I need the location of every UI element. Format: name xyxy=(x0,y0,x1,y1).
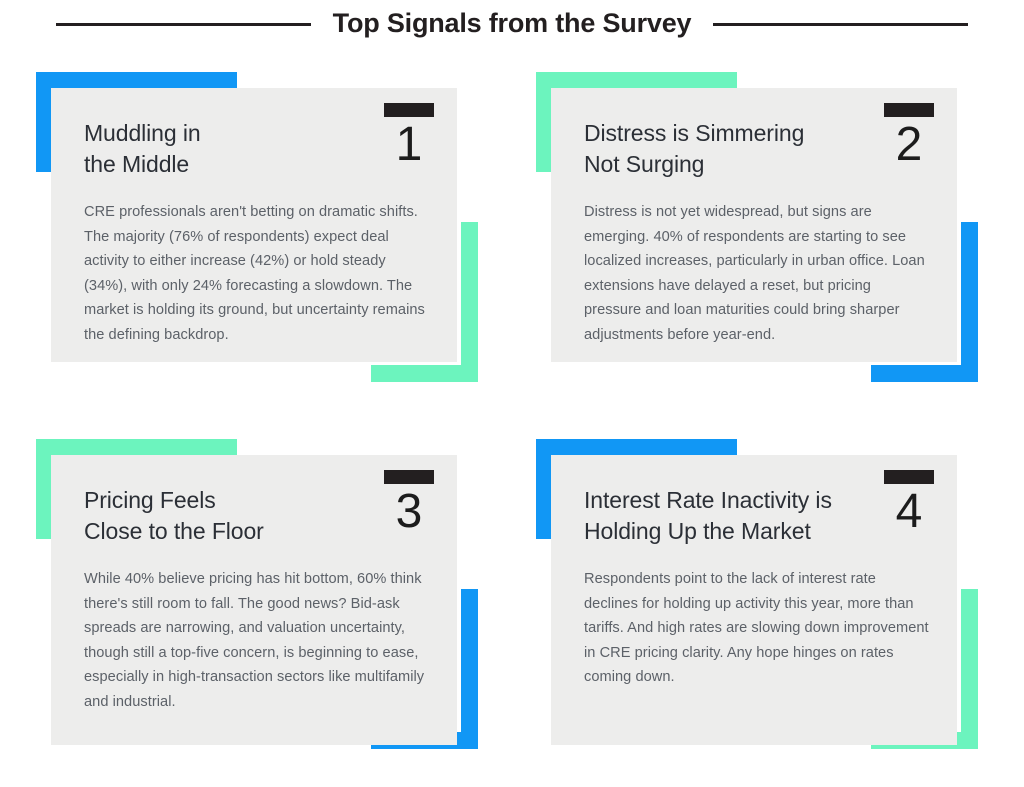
signal-card-3: Pricing Feels Close to the Floor 3 While… xyxy=(36,439,478,749)
card-body-panel: Pricing Feels Close to the Floor 3 While… xyxy=(51,455,457,745)
signal-card-4: Interest Rate Inactivity is Holding Up t… xyxy=(536,439,978,749)
card-number-badge: 1 xyxy=(383,103,435,169)
accent-bar-horizontal xyxy=(36,439,237,456)
accent-bar-vertical xyxy=(461,589,478,749)
card-body-panel: Muddling in the Middle 1 CRE professiona… xyxy=(51,88,457,362)
signal-card-1: Muddling in the Middle 1 CRE professiona… xyxy=(36,72,478,382)
card-description: Respondents point to the lack of interes… xyxy=(584,567,931,690)
accent-bar-horizontal xyxy=(36,72,237,89)
card-description: CRE professionals aren't betting on dram… xyxy=(84,200,431,348)
accent-bar-horizontal xyxy=(371,365,478,382)
signal-card-2: Distress is Simmering Not Surging 2 Dist… xyxy=(536,72,978,382)
signal-card-grid: Muddling in the Middle 1 CRE professiona… xyxy=(0,48,1024,787)
accent-bar-horizontal xyxy=(536,439,737,456)
accent-bar-horizontal xyxy=(871,365,978,382)
card-number: 3 xyxy=(383,488,435,536)
infographic-page: Top Signals from the Survey Muddling in … xyxy=(0,0,1024,787)
card-body-panel: Interest Rate Inactivity is Holding Up t… xyxy=(551,455,957,745)
card-number-badge: 3 xyxy=(383,470,435,536)
page-title: Top Signals from the Survey xyxy=(333,10,692,39)
card-header: Interest Rate Inactivity is Holding Up t… xyxy=(584,485,931,555)
card-number: 2 xyxy=(883,121,935,169)
card-title: Pricing Feels Close to the Floor xyxy=(84,485,431,547)
number-underline-bar-icon xyxy=(884,103,934,117)
number-underline-bar-icon xyxy=(384,103,434,117)
card-title: Distress is Simmering Not Surging xyxy=(584,118,931,180)
number-underline-bar-icon xyxy=(884,470,934,484)
card-description: Distress is not yet widespread, but sign… xyxy=(584,200,931,348)
card-title: Interest Rate Inactivity is Holding Up t… xyxy=(584,485,931,547)
card-header: Muddling in the Middle 1 xyxy=(84,118,431,188)
card-header: Pricing Feels Close to the Floor 3 xyxy=(84,485,431,555)
card-number-badge: 2 xyxy=(883,103,935,169)
accent-bar-vertical xyxy=(961,589,978,749)
accent-bar-vertical xyxy=(461,222,478,382)
card-number: 4 xyxy=(883,488,935,536)
accent-bar-vertical xyxy=(961,222,978,382)
number-underline-bar-icon xyxy=(384,470,434,484)
page-header: Top Signals from the Survey xyxy=(0,0,1024,48)
card-number: 1 xyxy=(383,121,435,169)
title-rule-left-icon xyxy=(56,23,311,26)
card-number-badge: 4 xyxy=(883,470,935,536)
card-description: While 40% believe pricing has hit bottom… xyxy=(84,567,431,715)
card-header: Distress is Simmering Not Surging 2 xyxy=(584,118,931,188)
card-body-panel: Distress is Simmering Not Surging 2 Dist… xyxy=(551,88,957,362)
card-title: Muddling in the Middle xyxy=(84,118,431,180)
accent-bar-horizontal xyxy=(536,72,737,89)
title-rule-right-icon xyxy=(713,23,968,26)
